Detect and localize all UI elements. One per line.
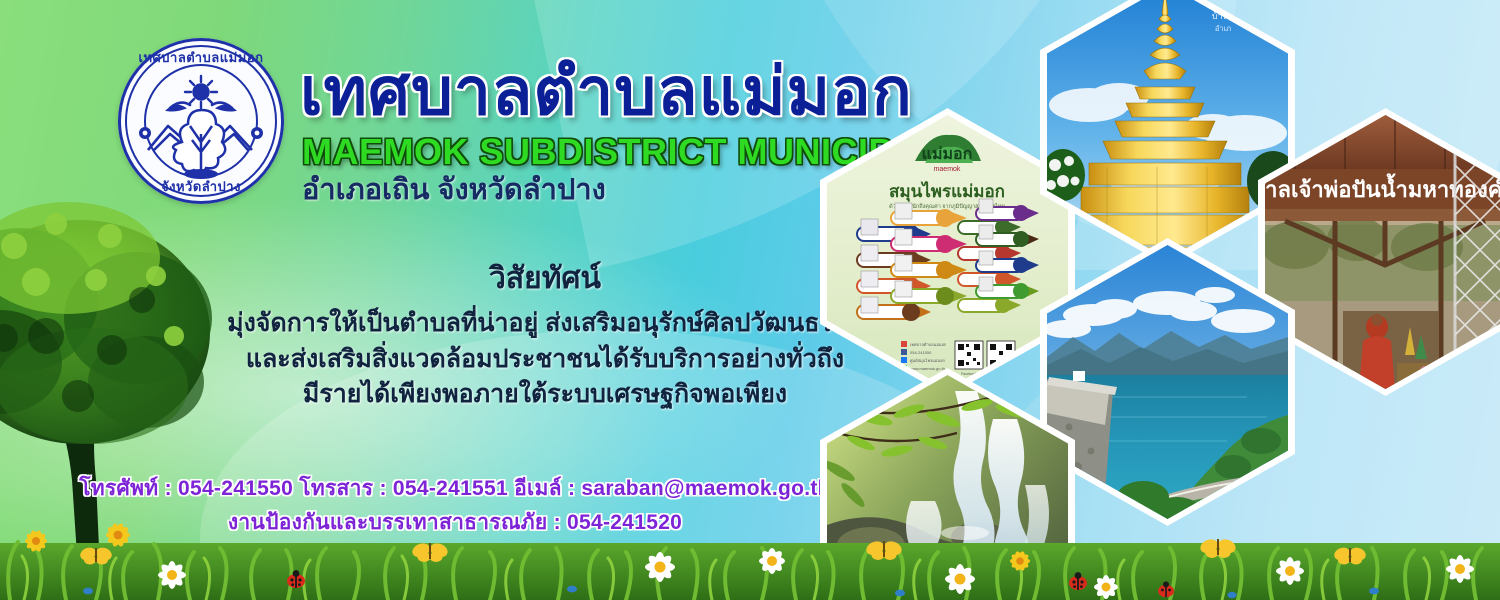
seal-bottom-text: จังหวัดลำปาง [118, 176, 284, 197]
svg-text:เทศบาลตำบลแม่มอก: เทศบาลตำบลแม่มอก [910, 342, 947, 347]
shrine-sign-text: ศาลเจ้าพ่อปันน้ำมหาทองคำ [1265, 173, 1500, 202]
hex-image: วัดพ บ้านกุ่ อำเภ [1047, 0, 1288, 259]
sun-icon [185, 76, 217, 108]
page-subtitle-thai: อำเภอเถิน จังหวัดลำปาง [302, 174, 606, 207]
municipality-banner: เทศบาลตำบลแม่มอก จังหวัดลำปาง เทศบาลตำบล… [0, 0, 1500, 600]
hexagon-golden-pagoda[interactable]: วัดพ บ้านกุ่ อำเภ [1040, 0, 1295, 266]
page-title-thai: เทศบาลตำบลแม่มอก [300, 58, 913, 124]
svg-text:วัดพ: วัดพ [1210, 0, 1240, 5]
municipality-logo: เทศบาลตำบลแม่มอก จังหวัดลำปาง [118, 38, 284, 204]
svg-text:แม่มอก: แม่มอก [922, 146, 973, 163]
contact-line-phone-fax-email[interactable]: โทรศัพท์ : 054-241550 โทรสาร : 054-24155… [60, 472, 850, 506]
svg-text:อำเภ: อำเภ [1215, 24, 1231, 33]
vision-line-2: และส่งเสริมสิ่งแวดล้อมประชาชนได้รับบริกา… [150, 342, 940, 378]
grass-decoration-strip [0, 505, 1500, 600]
vision-line-3: มีรายได้เพียงพอภายใต้ระบบเศรษฐกิจพอเพียง [150, 377, 940, 413]
svg-text:maemok: maemok [934, 166, 961, 173]
hexagon-reservoir-dam[interactable] [1040, 238, 1295, 526]
svg-text:Line: Line [998, 372, 1005, 376]
tree-icon [173, 110, 225, 179]
svg-text:www.maemok.go.th: www.maemok.go.th [910, 366, 945, 371]
seal-top-text: เทศบาลตำบลแม่มอก [118, 47, 284, 68]
dam-building-icon [1073, 371, 1085, 381]
svg-text:054-241550: 054-241550 [910, 350, 932, 355]
